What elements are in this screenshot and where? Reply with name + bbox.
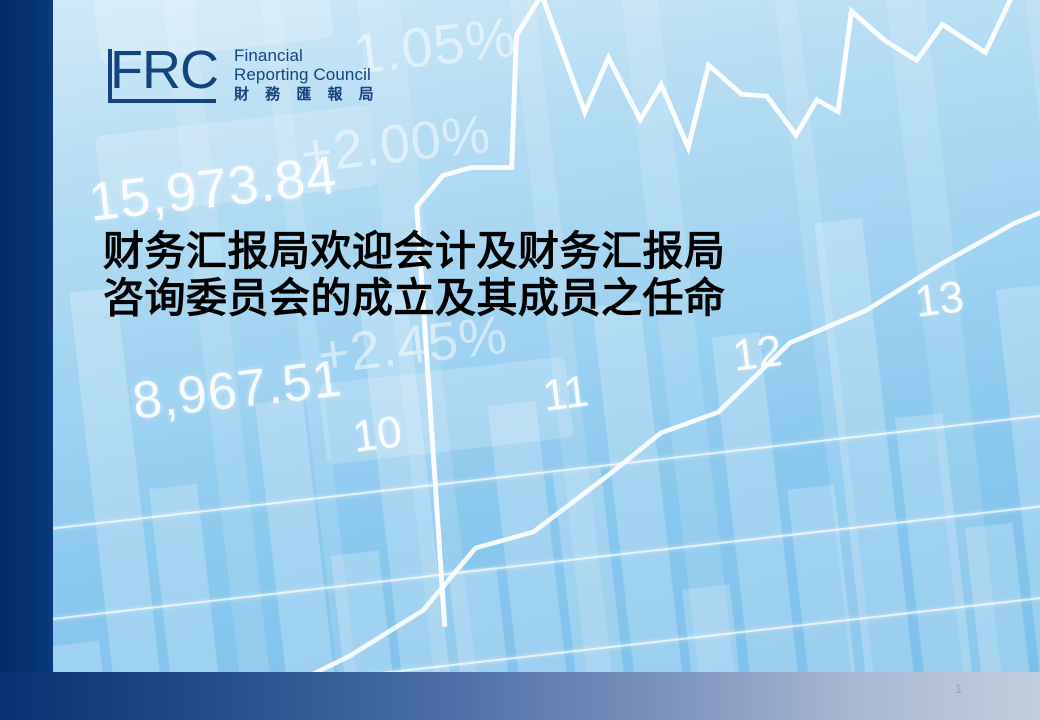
axis-label-11: 11 (540, 367, 591, 422)
logo-line-chinese: 財 務 匯 報 局 (234, 85, 380, 105)
axis-label-13: 13 (912, 272, 967, 328)
logo-line-reporting-council: Reporting Council (234, 65, 380, 84)
axis-label-12: 12 (730, 326, 785, 382)
slide-title-line-2: 咨询委员会的成立及其成员之任命 (103, 275, 903, 322)
logo-mark-text: FRC (110, 43, 218, 97)
frc-logo-mark: FRC (110, 47, 220, 105)
slide-title: 财务汇报局欢迎会计及财务汇报局 咨询委员会的成立及其成员之任命 (103, 228, 903, 322)
presentation-slide: 1.05% +2.00% 15,973.84 8,967.51 +2.45% 1… (0, 0, 1040, 720)
slide-footer-bar: 1 (0, 672, 1040, 720)
axis-label-10: 10 (350, 407, 405, 463)
frc-logo: FRC Financial Reporting Council 財 務 匯 報 … (110, 46, 380, 105)
logo-line-financial: Financial (234, 46, 380, 65)
page-number: 1 (955, 681, 962, 696)
left-navy-band (0, 0, 53, 720)
slide-title-line-1: 财务汇报局欢迎会计及财务汇报局 (103, 228, 903, 275)
frc-logo-wordmark: Financial Reporting Council 財 務 匯 報 局 (234, 46, 380, 105)
